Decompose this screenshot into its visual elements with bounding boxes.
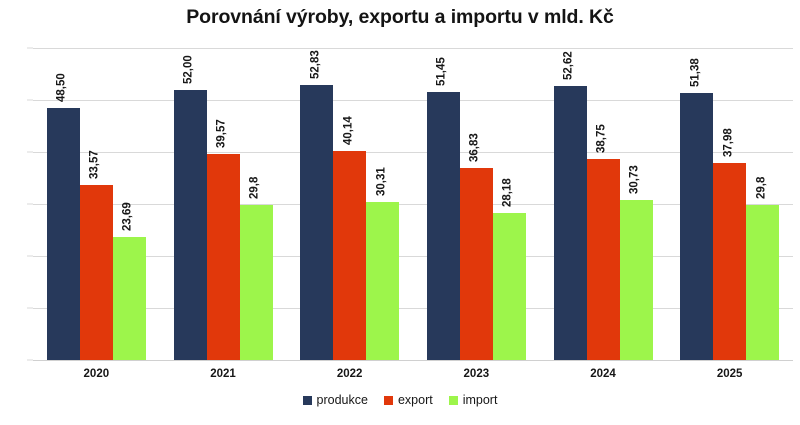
bar-group: 52,6238,7530,73 (554, 48, 653, 360)
x-axis-ticks: 202020212022202320242025 (33, 361, 793, 385)
x-axis-label-2025: 2025 (666, 368, 793, 380)
bar-export-2022[interactable]: 40,14 (333, 151, 366, 360)
bar-value-label: 33,57 (89, 151, 101, 180)
x-axis-label-2023: 2023 (413, 368, 540, 380)
bar-value-label: 29,8 (755, 177, 767, 199)
bar-import-2021[interactable]: 29,8 (240, 205, 273, 360)
legend-item-import[interactable]: import (449, 393, 498, 407)
bar-import-2025[interactable]: 29,8 (746, 205, 779, 360)
legend-swatch-icon (384, 396, 393, 405)
chart-title: Porovnání výroby, exportu a importu v ml… (0, 6, 800, 29)
bar-value-label: 51,38 (689, 58, 701, 87)
legend-item-produkce[interactable]: produkce (303, 393, 368, 407)
plot-area: 0102030405060 48,5033,5723,6952,0039,572… (33, 48, 793, 360)
bar-value-label: 30,73 (629, 165, 641, 194)
bar-value-label: 28,18 (502, 179, 514, 208)
bar-import-2024[interactable]: 30,73 (620, 200, 653, 360)
bar-value-label: 23,69 (122, 202, 134, 231)
bar-produkce-2022[interactable]: 52,83 (300, 85, 333, 360)
bar-group: 51,3837,9829,8 (680, 48, 779, 360)
x-axis-label-2024: 2024 (540, 368, 667, 380)
legend-label: produkce (317, 393, 368, 407)
legend-swatch-icon (303, 396, 312, 405)
bar-produkce-2021[interactable]: 52,00 (174, 90, 207, 360)
bar-value-label: 51,45 (436, 58, 448, 87)
bar-value-label: 40,14 (342, 117, 354, 146)
x-axis-label-2020: 2020 (33, 368, 160, 380)
bar-produkce-2024[interactable]: 52,62 (554, 86, 587, 360)
bar-value-label: 52,00 (183, 55, 195, 84)
bar-group: 51,4536,8328,18 (427, 48, 526, 360)
bar-group: 52,0039,5729,8 (174, 48, 273, 360)
bar-value-label: 29,8 (249, 177, 261, 199)
bar-chart: Porovnání výroby, exportu a importu v ml… (0, 0, 800, 425)
bar-export-2021[interactable]: 39,57 (207, 154, 240, 360)
legend-swatch-icon (449, 396, 458, 405)
bar-export-2024[interactable]: 38,75 (587, 159, 620, 361)
x-axis-label-2022: 2022 (286, 368, 413, 380)
x-axis-label-2021: 2021 (160, 368, 287, 380)
bar-import-2023[interactable]: 28,18 (493, 213, 526, 360)
bar-value-label: 30,31 (375, 168, 387, 197)
bar-value-label: 37,98 (722, 128, 734, 157)
bar-export-2020[interactable]: 33,57 (80, 185, 113, 360)
legend-item-export[interactable]: export (384, 393, 433, 407)
bar-value-label: 52,83 (309, 51, 321, 80)
bar-group: 52,8340,1430,31 (300, 48, 399, 360)
bar-value-label: 48,50 (56, 73, 68, 102)
bar-value-label: 52,62 (563, 52, 575, 81)
bar-import-2022[interactable]: 30,31 (366, 202, 399, 360)
bar-produkce-2020[interactable]: 48,50 (47, 108, 80, 360)
bar-value-label: 39,57 (216, 119, 228, 148)
bar-produkce-2025[interactable]: 51,38 (680, 93, 713, 360)
legend-label: export (398, 393, 433, 407)
bar-value-label: 38,75 (596, 124, 608, 153)
bar-export-2023[interactable]: 36,83 (460, 168, 493, 360)
bar-import-2020[interactable]: 23,69 (113, 237, 146, 360)
bar-export-2025[interactable]: 37,98 (713, 163, 746, 360)
bar-value-label: 36,83 (469, 134, 481, 163)
legend-label: import (463, 393, 498, 407)
chart-legend: produkceexportimport (0, 393, 800, 407)
bars-layer: 48,5033,5723,6952,0039,5729,852,8340,143… (33, 48, 793, 360)
bar-group: 48,5033,5723,69 (47, 48, 146, 360)
bar-produkce-2023[interactable]: 51,45 (427, 92, 460, 360)
